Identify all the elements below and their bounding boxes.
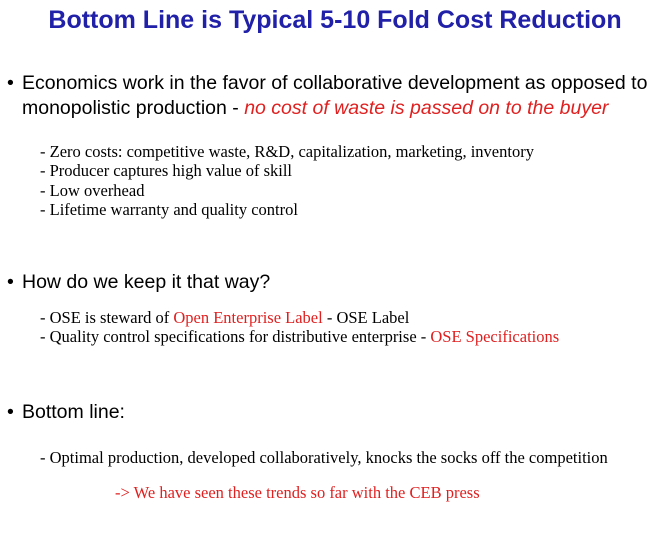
list-item-pre-text: - Quality control specifications for dis… xyxy=(40,327,430,346)
list-item: - Optimal production, developed collabor… xyxy=(40,448,608,467)
list-item-pre-text: - OSE is steward of xyxy=(40,308,173,327)
list-item-post-text: - OSE Label xyxy=(323,308,410,327)
list-item-highlight-text: OSE Specifications xyxy=(430,327,559,346)
bullet-row: • How do we keep it that way? xyxy=(6,270,664,295)
sub-list-bottom-line: - Optimal production, developed collabor… xyxy=(40,448,608,467)
slide-canvas: Bottom Line is Typical 5-10 Fold Cost Re… xyxy=(0,0,670,558)
bullet-lead-text: How do we keep it that way? xyxy=(22,270,664,295)
bullet-item-economics: • Economics work in the favor of collabo… xyxy=(6,71,664,121)
bullet-row: • Bottom line: xyxy=(6,400,664,425)
list-item: - Quality control specifications for dis… xyxy=(40,327,559,346)
bullet-row: • Economics work in the favor of collabo… xyxy=(6,71,664,121)
list-item: - Lifetime warranty and quality control xyxy=(40,200,534,219)
sub-list-economics: - Zero costs: competitive waste, R&D, ca… xyxy=(40,142,534,220)
bullet-dot-icon: • xyxy=(7,400,14,425)
bullet-text: Economics work in the favor of collabora… xyxy=(22,71,664,121)
sub-list-how-do-we-keep-it: - OSE is steward of Open Enterprise Labe… xyxy=(40,308,559,347)
arrow-note-text: -> We have seen these trends so far with… xyxy=(115,483,480,502)
bullet-item-bottom-line: • Bottom line: xyxy=(6,400,664,425)
list-item: - Producer captures high value of skill xyxy=(40,161,534,180)
list-item-highlight-text: Open Enterprise Label xyxy=(173,308,322,327)
list-item: - Low overhead xyxy=(40,181,534,200)
bullet-dot-icon: • xyxy=(7,71,14,96)
bullet-dot-icon: • xyxy=(7,270,14,295)
bullet-emphasis-text: no cost of waste is passed on to the buy… xyxy=(244,97,608,119)
list-item: - OSE is steward of Open Enterprise Labe… xyxy=(40,308,559,327)
list-item: - Zero costs: competitive waste, R&D, ca… xyxy=(40,142,534,161)
bullet-item-how-do-we-keep-it: • How do we keep it that way? xyxy=(6,270,664,295)
bullet-lead-text: Bottom line: xyxy=(22,400,664,425)
page-title: Bottom Line is Typical 5-10 Fold Cost Re… xyxy=(0,6,670,35)
